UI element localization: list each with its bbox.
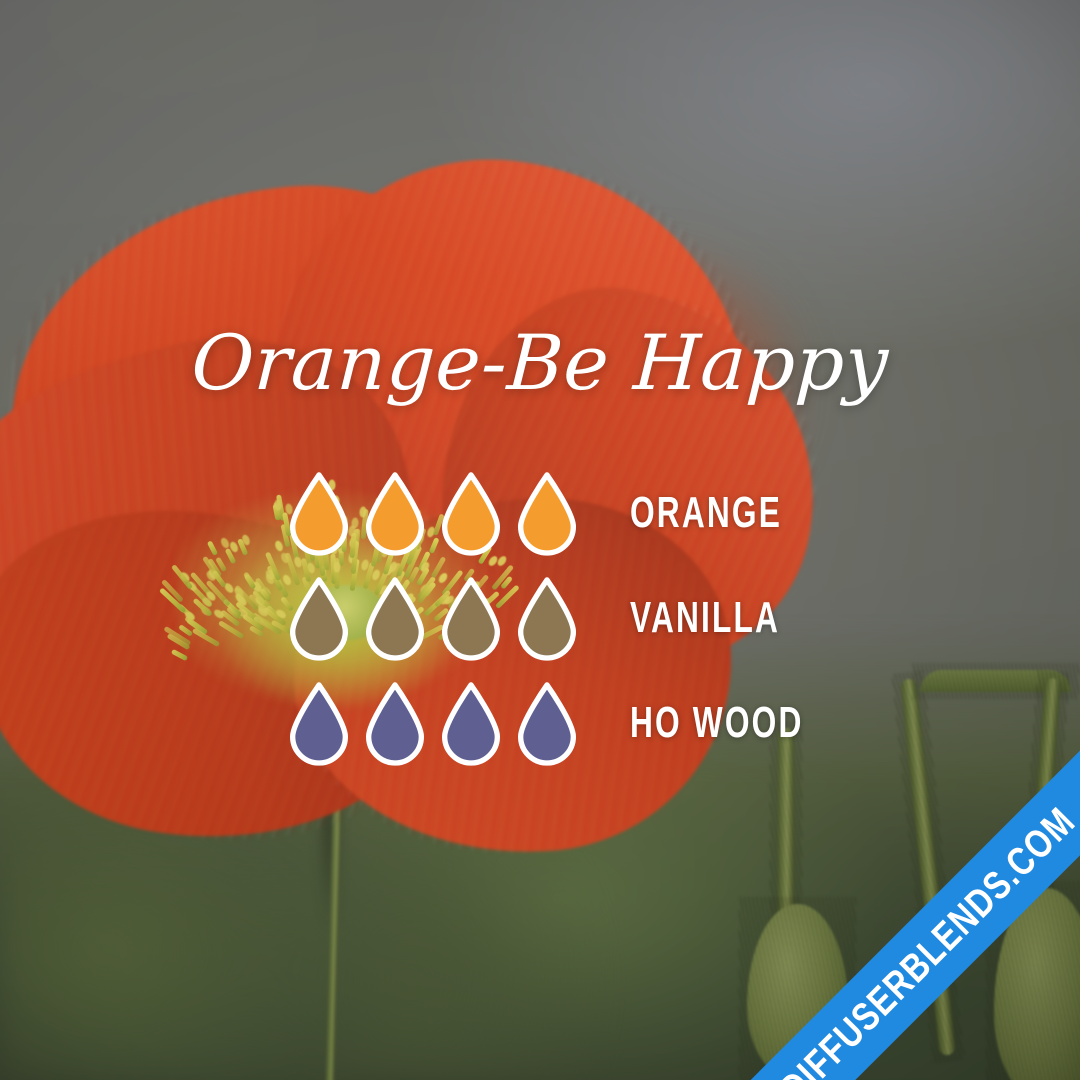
content-overlay: Orange-Be Happy ORANGEVANILLAHO WOOD DIF… <box>0 0 1080 1080</box>
recipe-row: HO WOOD <box>290 670 871 775</box>
blend-title: Orange-Be Happy <box>0 325 1080 401</box>
recipe-row: ORANGE <box>290 460 871 565</box>
drop-icon <box>366 683 424 763</box>
watermark-text: DIFFUSERBLENDS.COM <box>772 799 1080 1080</box>
watermark-ribbon: DIFFUSERBLENDS.COM <box>704 731 1080 1080</box>
drop-count-4 <box>290 578 576 658</box>
drop-icon <box>442 578 500 658</box>
drop-icon <box>518 683 576 763</box>
drop-icon <box>518 578 576 658</box>
drop-icon <box>290 578 348 658</box>
drop-icon <box>442 683 500 763</box>
drop-icon <box>366 473 424 553</box>
drop-icon <box>366 578 424 658</box>
drop-icon <box>442 473 500 553</box>
oil-name-label: HO WOOD <box>630 701 804 745</box>
blend-card: Orange-Be Happy ORANGEVANILLAHO WOOD DIF… <box>0 0 1080 1080</box>
drop-count-4 <box>290 683 576 763</box>
oil-name-label: ORANGE <box>630 491 782 535</box>
drop-icon <box>518 473 576 553</box>
recipe-list: ORANGEVANILLAHO WOOD <box>290 460 871 775</box>
recipe-row: VANILLA <box>290 565 871 670</box>
drop-icon <box>290 683 348 763</box>
oil-name-label: VANILLA <box>630 596 780 640</box>
drop-icon <box>290 473 348 553</box>
drop-count-4 <box>290 473 576 553</box>
